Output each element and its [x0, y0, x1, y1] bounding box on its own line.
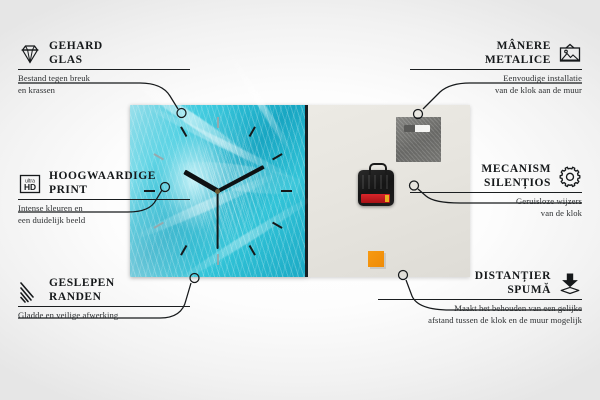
callout-title-line: GEHARD: [49, 40, 103, 54]
callout-subtitle-line: Intense kleuren en: [18, 200, 190, 214]
callout-subtitle-line: Geruisloze wijzers: [410, 193, 582, 207]
clock-hub: [215, 189, 220, 194]
clock-tick: [180, 126, 187, 137]
picture-frame-icon: [558, 42, 582, 66]
clock-tick: [272, 222, 283, 229]
callout-title-line: METALICE: [485, 54, 551, 68]
gear-icon: [558, 165, 582, 189]
callout-subtitle-line: van de klok: [410, 208, 582, 219]
callout-title-line: RANDEN: [49, 291, 115, 305]
callout-manere-metalice: MÂNERE METALICE Eenvoudige installatie v…: [410, 40, 582, 96]
clock-tick: [153, 153, 164, 160]
callout-mecanism-silentios: MECANISM SILENȚIOS Geruisloze wijzers va…: [410, 163, 582, 219]
clock-minute-hand: [217, 165, 265, 193]
clock-tick: [217, 117, 219, 128]
foam-spacer: [368, 251, 384, 267]
callout-title-line: DISTANȚIER: [475, 270, 551, 284]
clock-second-hand: [217, 191, 219, 249]
clock-tick: [272, 153, 283, 160]
svg-text:HD: HD: [24, 182, 36, 192]
callout-geslepen-randen: GESLEPEN RANDEN Gladde en veilige afwerk…: [18, 277, 190, 322]
clock-tick: [248, 245, 255, 256]
callout-title-line: MECANISM: [481, 163, 551, 177]
product-feature-infographic: GEHARD GLAS Bestand tegen breuk en krass…: [0, 0, 600, 400]
callout-subtitle-line: Maakt het behouden van een gelijke: [378, 300, 582, 314]
callout-subtitle-line: Eenvoudige installatie: [410, 70, 582, 84]
bevelled-edges-icon: [18, 279, 42, 303]
clock-tick: [281, 190, 292, 192]
ultra-hd-icon: ultra HD: [18, 172, 42, 196]
callout-gehard-glas: GEHARD GLAS Bestand tegen breuk en krass…: [18, 40, 190, 96]
callout-subtitle-line: en krassen: [18, 85, 190, 96]
callout-subtitle-line: afstand tussen de klok en de muur mogeli…: [378, 315, 582, 326]
clock-tick: [180, 245, 187, 256]
mechanism-detail: [362, 175, 390, 189]
quartz-mechanism: [358, 170, 394, 206]
callout-distantier-spuma: DISTANȚIER SPUMĂ Maakt het behouden van …: [378, 270, 582, 326]
callout-title-line: HOOGWAARDIGE: [49, 170, 156, 184]
callout-title-line: PRINT: [49, 184, 156, 198]
callout-hoogwaardige-print: ultra HD HOOGWAARDIGE PRINT Intense kleu…: [18, 170, 190, 226]
callout-subtitle-line: Gladde en veilige afwerking: [18, 307, 190, 321]
clock-tick: [217, 254, 219, 265]
diamond-icon: [18, 42, 42, 66]
callout-subtitle-line: Bestand tegen breuk: [18, 70, 190, 84]
spacer-arrow-icon: [558, 272, 582, 296]
clock-tick: [248, 126, 255, 137]
callout-title-line: GESLEPEN: [49, 277, 115, 291]
callout-title-line: SPUMĂ: [475, 284, 551, 298]
battery: [361, 194, 390, 203]
callout-subtitle-line: een duidelijk beeld: [18, 215, 190, 226]
callout-title-line: GLAS: [49, 54, 103, 68]
callout-title-line: MÂNERE: [485, 40, 551, 54]
mechanism-hanger-loop: [369, 163, 387, 175]
callout-title-line: SILENȚIOS: [481, 177, 551, 191]
hanger-slot: [404, 125, 430, 132]
metal-hanger-plate: [396, 117, 441, 162]
callout-subtitle-line: van de klok aan de muur: [410, 85, 582, 96]
battery-terminal: [385, 195, 389, 202]
